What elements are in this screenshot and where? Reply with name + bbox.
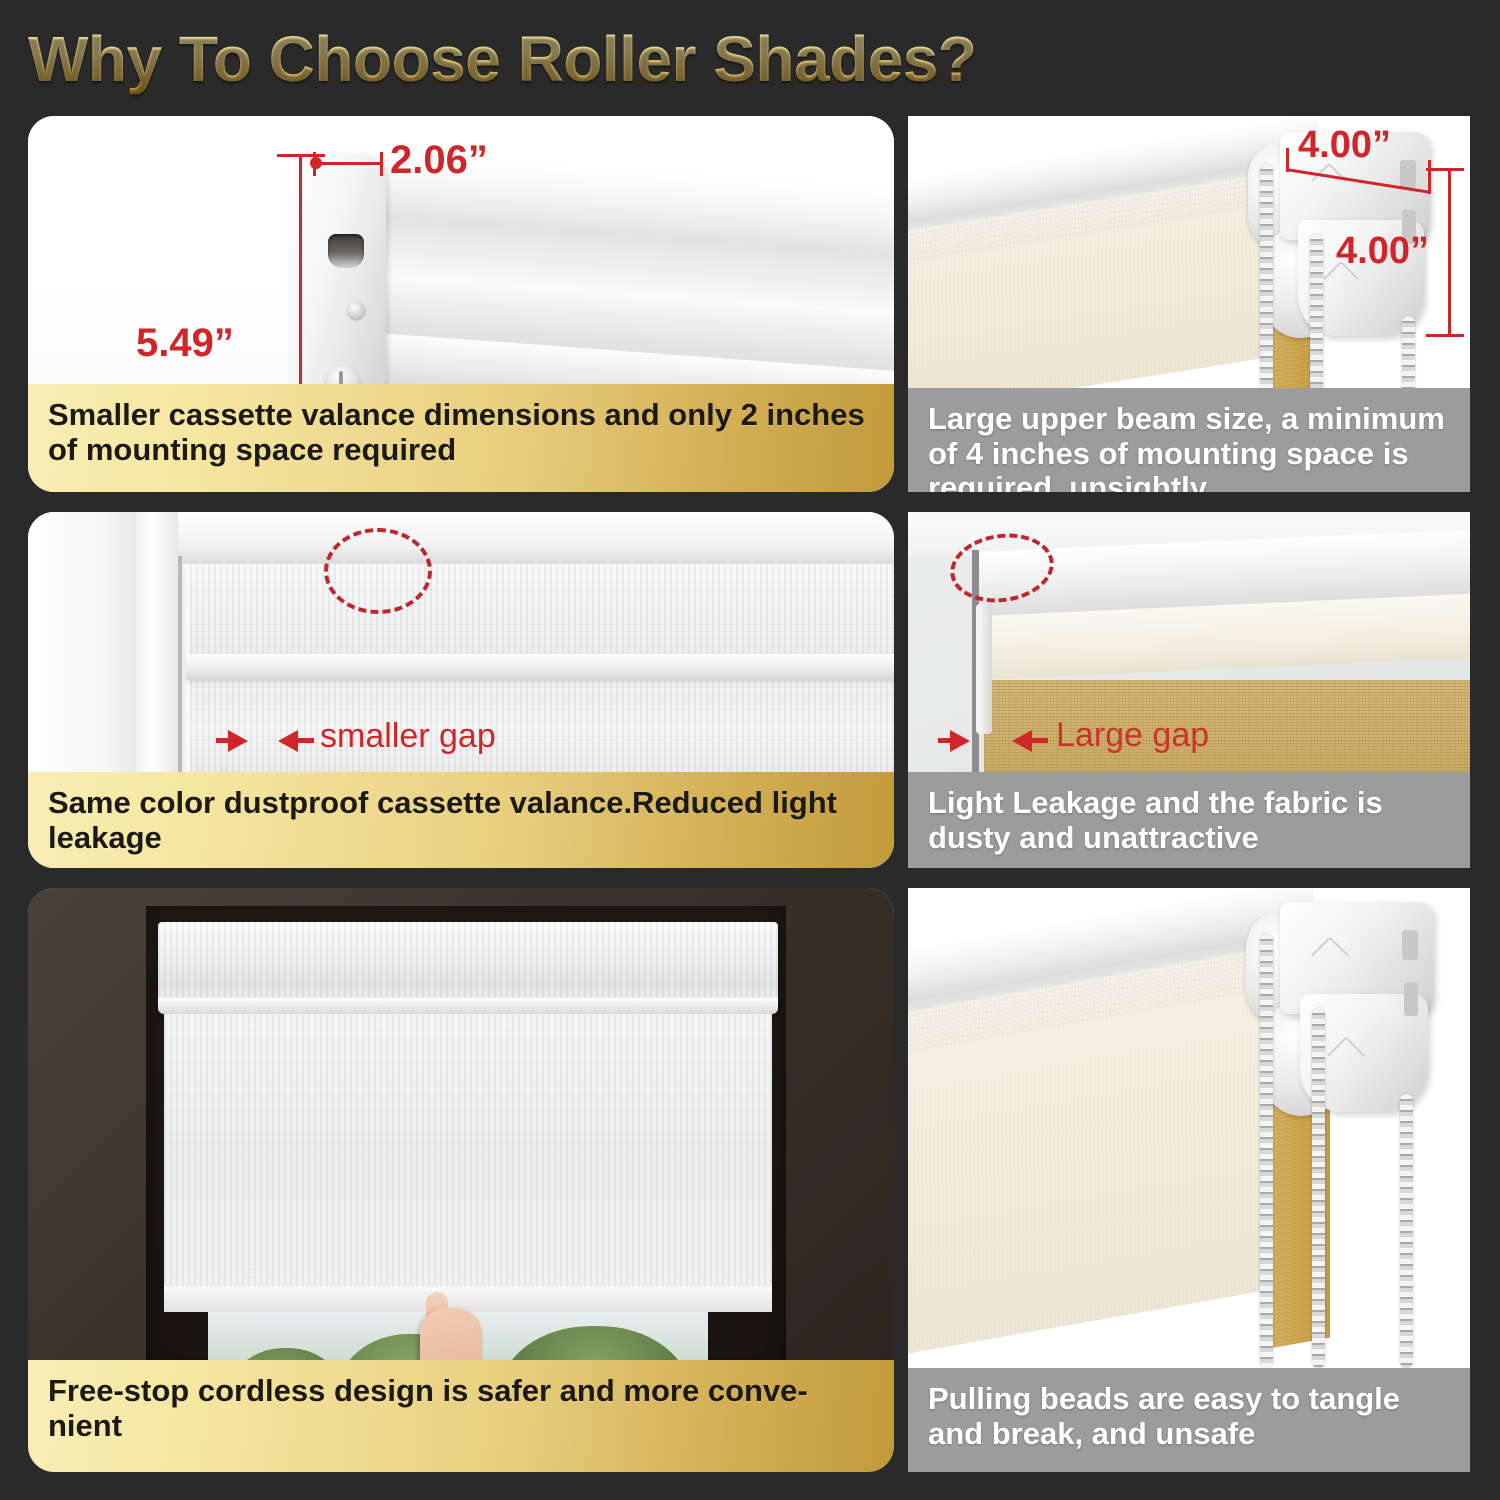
panel-large-upper-beam: 4.00” 4.00” Large upper beam size, a min…	[908, 116, 1470, 492]
panel-5-caption: Free-stop cordless design is safer and m…	[28, 1360, 894, 1472]
width-dimension-label: 2.06”	[390, 138, 488, 183]
cassette-slot	[328, 234, 364, 268]
bead-chain-1	[1260, 934, 1273, 1368]
panel-pulling-beads: Pulling beads are easy to tangle and bre…	[908, 888, 1470, 1472]
height-dim-tick-top	[277, 154, 325, 157]
valance-rail	[186, 654, 894, 680]
shade-fabric	[164, 1014, 772, 1294]
gap-arrow-left-stem	[216, 738, 234, 743]
roller-fabric-cream	[908, 988, 1282, 1356]
panel-dustproof-valance: smaller gap Same color dustproof cassett…	[28, 512, 894, 868]
bead-chain-1	[1260, 164, 1273, 414]
panel-light-leakage: Large gap Light Leakage and the fabric i…	[908, 512, 1470, 868]
gap-callout-label: smaller gap	[320, 717, 496, 756]
panel-1-caption: Smaller cassette valance dimensions and …	[28, 384, 894, 492]
gap-arrow-right-stem	[1030, 738, 1048, 743]
cassette-screw	[348, 302, 365, 319]
panel-2-caption: Large upper beam size, a minimum of 4 in…	[908, 388, 1470, 492]
width-dim-line	[313, 162, 383, 165]
highlight-circle	[324, 528, 432, 614]
cassette-head-lip	[158, 998, 778, 1014]
bracket-notch-bottom	[1404, 982, 1418, 1016]
comparison-grid: 2.06” 5.49” Smaller cassette valance dim…	[0, 0, 1500, 1500]
panel-3-caption: Same color dustproof cassette valance.Re…	[28, 772, 894, 868]
gap-arrow-right-stem	[296, 738, 314, 743]
bracket-notch-top	[1400, 160, 1416, 188]
bracket-pin	[976, 604, 992, 734]
gap-edge-line	[178, 556, 182, 806]
width-dim-dot	[310, 157, 322, 169]
gap-arrow-right	[278, 730, 298, 752]
gap-callout-label: Large gap	[1056, 716, 1209, 755]
bracket-notch-top	[1402, 930, 1418, 960]
shade-fabric	[190, 564, 894, 800]
height-dimension-label: 4.00”	[1336, 230, 1429, 273]
bead-chain-2	[1310, 234, 1323, 414]
height-dimension-label: 5.49”	[136, 321, 234, 366]
gap-arrow-left-stem	[938, 738, 956, 743]
bead-chain-3	[1400, 1094, 1413, 1368]
bead-chain-2	[1312, 1008, 1325, 1368]
frame-head	[178, 512, 894, 564]
width-dim-tick-right	[1428, 160, 1431, 194]
panel-4-caption: Light Leakage and the fabric is dusty an…	[908, 772, 1470, 868]
gap-arrow-right	[1012, 730, 1032, 752]
bottom-rail	[164, 1286, 772, 1312]
panel-cordless-design: Free-stop cordless design is safer and m…	[28, 888, 894, 1472]
width-dimension-label: 4.00”	[1298, 124, 1391, 167]
height-dim-line	[1448, 168, 1451, 336]
panel-smaller-cassette: 2.06” 5.49” Smaller cassette valance dim…	[28, 116, 894, 492]
height-dim-tick-bottom	[1426, 334, 1464, 337]
height-dim-tick-top	[1426, 168, 1464, 171]
panel-6-caption: Pulling beads are easy to tangle and bre…	[908, 1368, 1470, 1472]
